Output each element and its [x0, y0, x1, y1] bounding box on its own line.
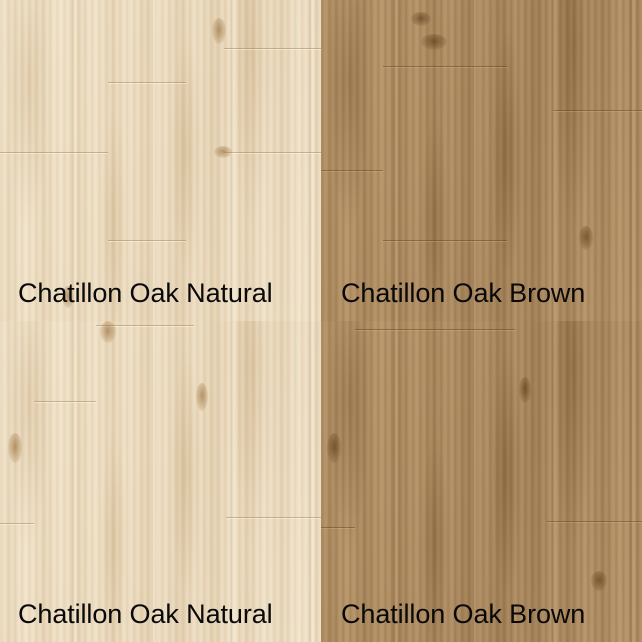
wood-knot: [421, 34, 447, 50]
wood-knot: [212, 18, 226, 44]
wood-texture-natural: [0, 321, 321, 642]
plank-end-joint: [417, 329, 515, 330]
swatch-grid: Chatillon Oak Natural Chatillon Oak Brow…: [0, 0, 642, 642]
wood-knot: [327, 433, 341, 463]
swatch-label-top-left: Chatillon Oak Natural: [18, 280, 273, 307]
wood-knot: [591, 571, 607, 591]
wood-fine-grain: [321, 321, 642, 642]
swatch-tile-bottom-right[interactable]: Chatillon Oak Brown: [321, 321, 642, 642]
plank-end-joint: [224, 48, 321, 49]
swatch-label-bottom-left: Chatillon Oak Natural: [18, 601, 273, 628]
wood-knot: [579, 226, 593, 250]
wood-knot: [519, 377, 531, 403]
wood-knot: [100, 321, 116, 343]
wood-texture-natural: [0, 0, 321, 321]
plank-end-joint: [0, 523, 34, 524]
plank-end-joint: [321, 527, 355, 528]
plank-end-joint: [553, 110, 642, 111]
plank-end-joint: [108, 240, 186, 241]
plank-end-joint: [226, 517, 321, 518]
wood-knot: [8, 433, 22, 463]
swatch-tile-top-left[interactable]: Chatillon Oak Natural: [0, 0, 321, 321]
plank-end-joint: [383, 66, 507, 67]
plank-end-joint: [108, 82, 186, 83]
swatch-label-top-right: Chatillon Oak Brown: [341, 280, 585, 307]
plank-end-joint: [0, 152, 108, 153]
plank-end-joint: [34, 401, 96, 402]
swatch-tile-top-right[interactable]: Chatillon Oak Brown: [321, 0, 642, 321]
wood-knot: [214, 146, 232, 158]
plank-end-joint: [355, 329, 417, 330]
plank-end-joint: [321, 170, 383, 171]
plank-end-joint: [383, 240, 507, 241]
wood-texture-brown: [321, 0, 642, 321]
wood-fine-grain: [0, 321, 321, 642]
wood-knot: [411, 12, 431, 26]
plank-end-joint: [224, 152, 321, 153]
wood-texture-brown: [321, 321, 642, 642]
plank-end-joint: [547, 521, 642, 522]
swatch-label-bottom-right: Chatillon Oak Brown: [341, 601, 585, 628]
wood-knot: [196, 383, 208, 411]
wood-fine-grain: [321, 0, 642, 321]
swatch-tile-bottom-left[interactable]: Chatillon Oak Natural: [0, 321, 321, 642]
